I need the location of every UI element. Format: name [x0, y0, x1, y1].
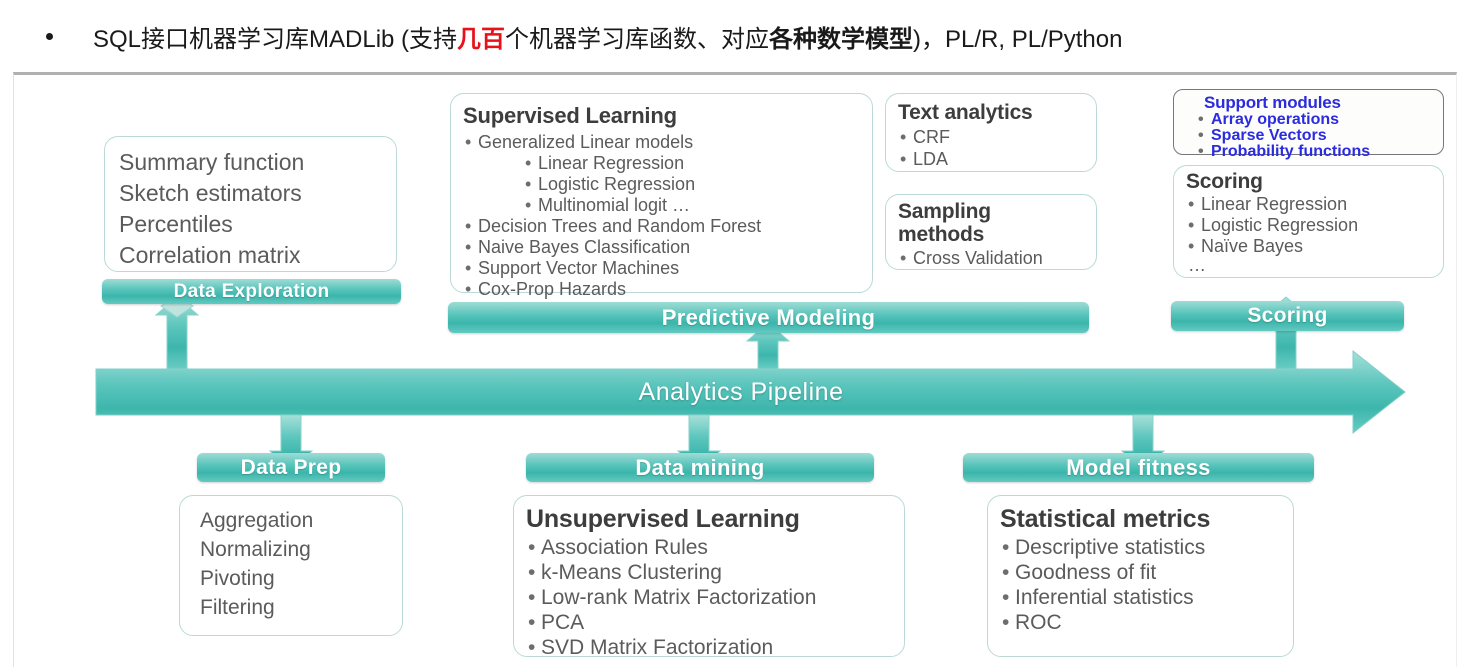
text-analytics-box: Text analytics CRF LDA: [885, 93, 1097, 172]
data-prep-box: Aggregation Normalizing Pivoting Filteri…: [179, 495, 403, 636]
diagram-canvas: Analytics Pipeline Summary function Sket…: [1, 3, 1472, 670]
list-item: Pivoting: [200, 564, 402, 593]
list-item: Support Vector Machines: [463, 258, 872, 279]
list-item: Filtering: [200, 593, 402, 622]
list-item: Logistic Regression: [463, 174, 872, 195]
supervised-learning-box: Supervised Learning Generalized Linear m…: [450, 93, 873, 293]
list-item: Sparse Vectors: [1186, 128, 1443, 144]
list-item: Generalized Linear models: [463, 132, 872, 153]
data-exploration-list: Summary function Sketch estimators Perce…: [119, 147, 396, 271]
unsupervised-learning-title: Unsupervised Learning: [526, 504, 904, 535]
list-item: Cross Validation: [898, 246, 1096, 270]
support-modules-title: Support modules: [1186, 93, 1443, 112]
list-item: Low-rank Matrix Factorization: [526, 585, 904, 610]
list-item: Normalizing: [200, 535, 402, 564]
list-item: LDA: [898, 148, 1096, 170]
list-item: Cox-Prop Hazards: [463, 279, 872, 300]
list-item: SVD Matrix Factorization: [526, 635, 904, 660]
data-prep-list: Aggregation Normalizing Pivoting Filteri…: [200, 506, 402, 622]
analytics-pipeline-arrow: [96, 351, 1405, 433]
supervised-learning-list: Generalized Linear models Linear Regress…: [463, 132, 872, 321]
list-item: Logistic Regression: [1186, 215, 1443, 236]
supervised-learning-title: Supervised Learning: [463, 102, 872, 130]
stage-bar-data-mining[interactable]: Data mining: [526, 453, 874, 482]
list-item: Multinomial logit …: [463, 195, 872, 216]
text-analytics-title: Text analytics: [898, 100, 1096, 126]
sampling-methods-title: Sampling methods: [898, 200, 1028, 246]
sampling-methods-list: Cross Validation: [898, 246, 1096, 270]
stage-bar-data-exploration[interactable]: Data Exploration: [102, 279, 401, 304]
scoring-ellipsis: …: [1186, 257, 1443, 274]
list-item: Linear Regression: [463, 153, 872, 174]
list-item: Probability functions: [1186, 144, 1443, 160]
data-exploration-box: Summary function Sketch estimators Perce…: [104, 136, 397, 272]
list-item: Decision Trees and Random Forest: [463, 216, 872, 237]
list-item: Array operations: [1186, 112, 1443, 128]
statistical-metrics-title: Statistical metrics: [1000, 504, 1293, 535]
list-item: Naive Bayes Classification: [463, 237, 872, 258]
list-item: Summary function: [119, 147, 396, 178]
connector-up-data-exploration: [156, 297, 198, 369]
unsupervised-learning-box: Unsupervised Learning Association Rules …: [513, 495, 905, 657]
list-item: Aggregation: [200, 506, 402, 535]
support-modules-box: Support modules Array operations Sparse …: [1173, 89, 1444, 155]
stage-bar-data-prep[interactable]: Data Prep: [197, 453, 385, 482]
list-item: Association Rules: [526, 535, 904, 560]
list-item: ROC: [1000, 610, 1293, 635]
list-item: Correlation matrix: [119, 240, 396, 271]
stage-bar-predictive-modeling[interactable]: Predictive Modeling: [448, 302, 1089, 333]
scoring-box: Scoring Linear Regression Logistic Regre…: [1173, 165, 1444, 278]
list-item: Linear Regression: [1186, 194, 1443, 215]
list-item: Sketch estimators: [119, 178, 396, 209]
support-modules-list: Array operations Sparse Vectors Probabil…: [1186, 112, 1443, 160]
statistical-metrics-list: Descriptive statistics Goodness of fit I…: [1000, 535, 1293, 635]
statistical-metrics-box: Statistical metrics Descriptive statisti…: [987, 495, 1294, 657]
list-item: Descriptive statistics: [1000, 535, 1293, 560]
list-item: k-Means Clustering: [526, 560, 904, 585]
stage-bar-model-fitness[interactable]: Model fitness: [963, 453, 1314, 482]
list-item: Percentiles: [119, 209, 396, 240]
sampling-methods-box: Sampling methods Cross Validation: [885, 194, 1097, 270]
list-item: CRF: [898, 126, 1096, 148]
scoring-title: Scoring: [1186, 170, 1443, 194]
scoring-list: Linear Regression Logistic Regression Na…: [1186, 194, 1443, 274]
stage-bar-scoring[interactable]: Scoring: [1171, 301, 1404, 331]
text-analytics-list: CRF LDA: [898, 126, 1096, 170]
list-item: Naïve Bayes: [1186, 236, 1443, 257]
analytics-pipeline-label: Analytics Pipeline: [96, 369, 1386, 415]
list-item: Inferential statistics: [1000, 585, 1293, 610]
unsupervised-learning-list: Association Rules k-Means Clustering Low…: [526, 535, 904, 660]
list-item: PCA: [526, 610, 904, 635]
list-item: Goodness of fit: [1000, 560, 1293, 585]
diagram-frame: Analytics Pipeline Summary function Sket…: [13, 72, 1457, 667]
